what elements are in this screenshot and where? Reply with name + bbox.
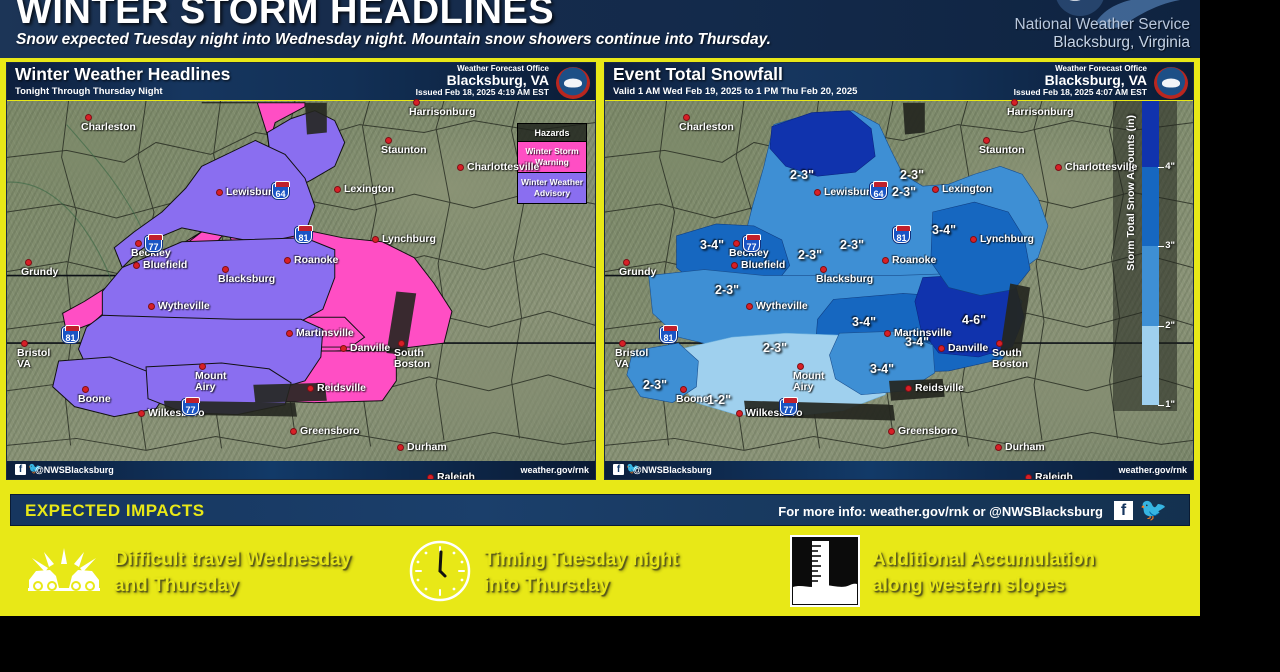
interstate-shield-81: 81 [295,227,312,243]
city-dot-icon [1025,474,1032,480]
city-dot-icon [340,345,347,352]
snow-amount-label: 2-3" [763,341,787,355]
city-label: Charlottesville [1065,162,1137,173]
city-dot-icon [884,330,891,337]
right-wfo-block: Weather Forecast Office Blacksburg, VA I… [1014,64,1147,97]
weather-graphic: WINTER STORM HEADLINES Snow expected Tue… [0,0,1280,672]
city-dot-icon [996,340,1003,347]
city-label: Blacksburg [218,274,275,285]
city-label: Lewisburg [824,187,877,198]
city-dot-icon [932,186,939,193]
snowfall-colorbar [1142,87,1159,405]
city-dot-icon [683,114,690,121]
snow-amount-label: 2-3" [790,168,814,182]
twitter-icon[interactable]: 🐦 [1140,499,1167,521]
city-dot-icon [820,266,827,273]
snow-amount-label: 3-4" [852,315,876,329]
city-label: Greensboro [898,426,958,437]
nws-seal-icon [555,66,591,100]
snow-band-4-6in-north [770,111,875,177]
interstate-shield-77: 77 [780,399,797,415]
city-label: Boone [78,394,111,405]
city-label: Bluefield [143,260,187,271]
city-label: Wytheville [158,301,210,312]
interstate-shield-81: 81 [660,327,677,343]
city-label: Lynchburg [980,234,1034,245]
city-dot-icon [1055,164,1062,171]
snow-amount-label: 3-4" [700,238,724,252]
city-dot-icon [746,303,753,310]
interstate-shield-77: 77 [145,236,162,252]
city-label: Martinsville [894,328,952,339]
left-panel-subtitle: Tonight Through Thursday Night [15,86,163,97]
maps-container: Winter Weather Headlines Tonight Through… [0,58,1200,486]
city-dot-icon [457,164,464,171]
city-dot-icon [983,137,990,144]
city-label: Grundy [619,267,656,278]
city-dot-icon [334,186,341,193]
colorbar-tick-label: 2" [1165,320,1175,331]
right-panel-title: Event Total Snowfall [613,64,783,85]
city-label: SouthBoston [394,348,430,370]
colorbar-band-1-2 [1142,326,1159,406]
city-label: Harrisonburg [1007,107,1074,118]
colorbar-tick-label: 3" [1165,240,1175,251]
city-label: Charlottesville [467,162,539,173]
legend-winter-weather-advisory: Winter Weather Advisory [518,172,586,203]
city-dot-icon [888,428,895,435]
colorbar-tick-label: 4" [1165,161,1175,172]
page-subtitle: Snow expected Tuesday night into Wednesd… [16,31,771,49]
interstate-shield-64: 64 [272,183,289,199]
left-panel-title: Winter Weather Headlines [15,64,230,85]
city-label: Martinsville [296,328,354,339]
city-dot-icon [623,259,630,266]
city-dot-icon [21,340,28,347]
city-dot-icon [82,386,89,393]
interstate-shield-64: 64 [870,183,887,199]
interstate-shield-81: 81 [893,227,910,243]
city-dot-icon [222,266,229,273]
city-dot-icon [148,303,155,310]
impacts-items: Difficult travel Wednesday and Thursday [0,530,1200,616]
city-label: Lexington [942,184,992,195]
event-total-snowfall-map[interactable]: 2-3"2-3"3-4"2-3"2-3"3-4"2-3"2-3"2-3"3-4"… [604,62,1194,480]
city-dot-icon [905,385,912,392]
right-panel-header: Event Total Snowfall Valid 1 AM Wed Feb … [605,63,1193,101]
website-url: weather.gov/rnk [1118,465,1187,475]
city-label: Raleigh [1035,472,1073,480]
colorbar-tick-label: 1" [1165,399,1175,410]
city-dot-icon [135,240,142,247]
city-label: Lynchburg [382,234,436,245]
colorbar-band-3-4 [1142,167,1159,247]
issued-time: Issued Feb 18, 2025 4:07 AM EST [1014,87,1147,97]
impact-item-accumulation: Additional Accumulation along western sl… [790,535,1190,612]
interstate-shield-77: 77 [182,399,199,415]
city-label: Staunton [381,145,427,156]
city-label: Bluefield [741,260,785,271]
agency-name: National Weather Service [1015,16,1190,34]
city-dot-icon [731,262,738,269]
city-dot-icon [199,363,206,370]
city-dot-icon [814,189,821,196]
city-label: Charleston [679,122,734,133]
city-dot-icon [938,345,945,352]
city-label: Harrisonburg [409,107,476,118]
agency-branding: National Weather Service Blacksburg, Vir… [1015,16,1190,53]
impacts-title: EXPECTED IMPACTS [25,501,205,521]
letterbox-right [1200,0,1280,672]
city-label: Danville [350,343,390,354]
letterbox-bottom [0,616,1280,672]
hazards-legend-title: Hazards [518,124,586,141]
city-dot-icon [882,257,889,264]
colorbar-title: Storm Total Snow Amounts (in) [1125,115,1137,271]
colorbar-band-2-3 [1142,246,1159,326]
city-dot-icon [290,428,297,435]
more-info-text: For more info: weather.gov/rnk or @NWSBl… [778,504,1103,519]
city-dot-icon [284,257,291,264]
city-dot-icon [736,410,743,417]
city-dot-icon [398,340,405,347]
website-url: weather.gov/rnk [520,465,589,475]
left-panel-header: Winter Weather Headlines Tonight Through… [7,63,595,101]
city-label: Durham [407,442,447,453]
city-dot-icon [25,259,32,266]
city-label: Wytheville [756,301,808,312]
city-dot-icon [133,262,140,269]
city-label: BristolVA [615,348,648,370]
winter-weather-headlines-map[interactable]: Winter Weather Headlines Tonight Through… [6,62,596,480]
interstate-shield-81: 81 [62,327,79,343]
snow-amount-label: 3-4" [932,223,956,237]
city-dot-icon [995,444,1002,451]
impacts-header-bar: EXPECTED IMPACTS For more info: weather.… [10,494,1190,526]
right-credit-bar: f 🐦 @NWSBlacksburg weather.gov/rnk [605,461,1193,479]
city-label: Lewisburg [226,187,279,198]
city-dot-icon [307,385,314,392]
city-label: Lexington [344,184,394,195]
city-dot-icon [619,340,626,347]
city-label: MountAiry [195,371,227,393]
city-dot-icon [1011,99,1018,106]
wfo-office: Blacksburg, VA [1014,72,1147,88]
city-label: Staunton [979,145,1025,156]
city-label: Danville [948,343,988,354]
city-dot-icon [397,444,404,451]
left-credit-bar: f 🐦 @NWSBlacksburg weather.gov/rnk [7,461,595,479]
city-label: Blacksburg [816,274,873,285]
snow-amount-label: 2-3" [798,248,822,262]
city-label: Durham [1005,442,1045,453]
snow-amount-label: 1-2" [707,393,731,407]
city-dot-icon [427,474,434,480]
impact-text-travel: Difficult travel Wednesday and Thursday [114,547,351,599]
city-dot-icon [680,386,687,393]
social-handle: @NWSBlacksburg [633,465,712,475]
snow-amount-label: 2-3" [900,168,924,182]
city-dot-icon [733,240,740,247]
facebook-icon[interactable]: f [1114,501,1133,520]
snow-amount-label: 2-3" [715,283,739,297]
city-label: MountAiry [793,371,825,393]
city-label: Grundy [21,267,58,278]
city-dot-icon [413,99,420,106]
right-panel-subtitle: Valid 1 AM Wed Feb 19, 2025 to 1 PM Thu … [613,86,857,97]
city-dot-icon [138,410,145,417]
left-wfo-block: Weather Forecast Office Blacksburg, VA I… [416,64,549,97]
page-header: WINTER STORM HEADLINES Snow expected Tue… [0,0,1200,58]
city-label: Boone [676,394,709,405]
city-label: SouthBoston [992,348,1028,370]
agency-office: Blacksburg, Virginia [1015,34,1190,52]
city-label: Charleston [81,122,136,133]
impact-text-timing: Timing Tuesday night into Thursday [484,547,679,599]
city-label: Reidsville [915,383,964,394]
snow-amount-label: 3-4" [870,362,894,376]
clock-icon [408,539,472,608]
city-label: Greensboro [300,426,360,437]
social-handle: @NWSBlacksburg [35,465,114,475]
snow-amount-label: 2-3" [643,378,667,392]
city-label: Roanoke [892,255,936,266]
issued-time: Issued Feb 18, 2025 4:19 AM EST [416,87,549,97]
facebook-icon[interactable]: f [613,464,624,475]
nws-seal-icon [1153,66,1189,100]
facebook-icon[interactable]: f [15,464,26,475]
car-crash-icon [26,544,102,603]
wfo-office: Blacksburg, VA [416,72,549,88]
interstate-shield-77: 77 [743,236,760,252]
snow-amount-label: 4-6" [962,313,986,327]
expected-impacts-section: EXPECTED IMPACTS For more info: weather.… [0,486,1200,616]
snow-amount-label: 2-3" [892,185,916,199]
snow-amount-label: 2-3" [840,238,864,252]
city-label: BristolVA [17,348,50,370]
city-dot-icon [85,114,92,121]
snow-ruler-icon [790,535,860,612]
city-dot-icon [970,236,977,243]
city-dot-icon [372,236,379,243]
city-dot-icon [286,330,293,337]
city-label: Roanoke [294,255,338,266]
city-dot-icon [385,137,392,144]
city-dot-icon [216,189,223,196]
impact-text-accumulation: Additional Accumulation along western sl… [872,547,1095,599]
impact-item-timing: Timing Tuesday night into Thursday [408,539,780,608]
city-dot-icon [797,363,804,370]
impact-item-travel: Difficult travel Wednesday and Thursday [26,544,398,603]
city-label: Reidsville [317,383,366,394]
city-label: Raleigh [437,472,475,480]
page-title: WINTER STORM HEADLINES [16,0,554,33]
